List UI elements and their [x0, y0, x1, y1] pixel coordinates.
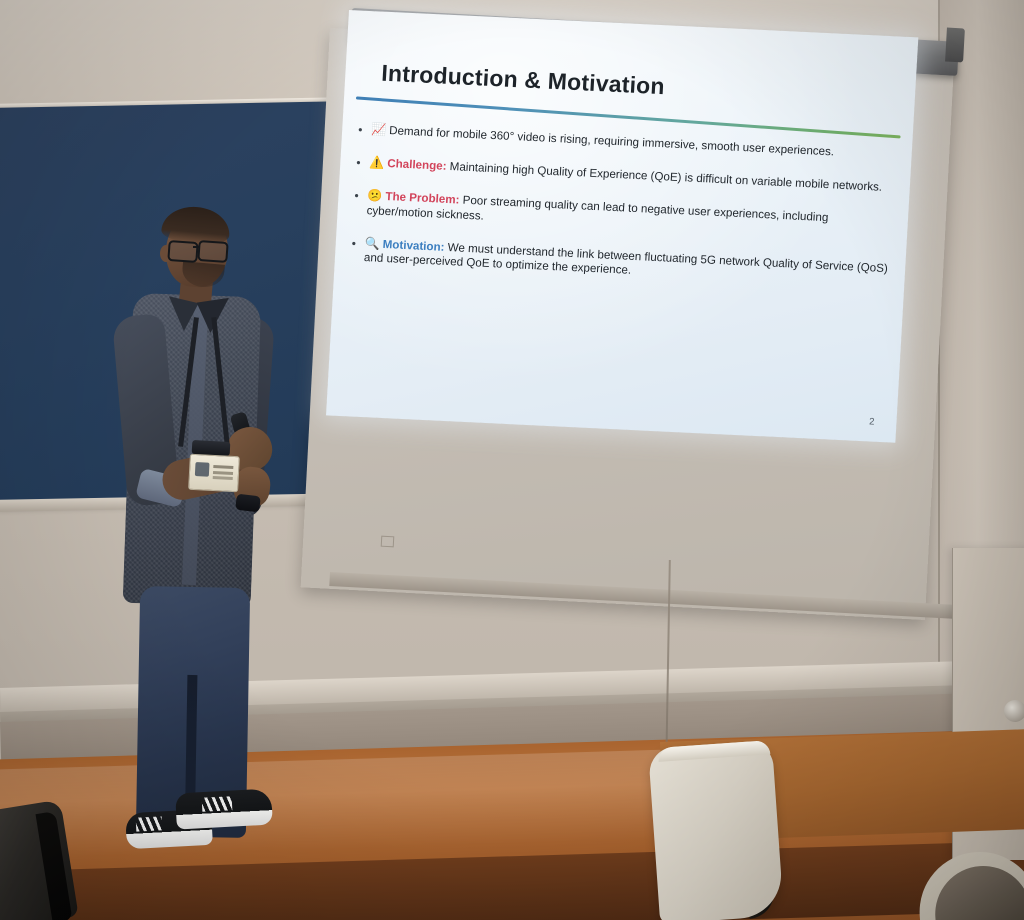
bullet-marker: •: [358, 123, 372, 138]
bullet-text: Demand for mobile 360° video is rising, …: [389, 124, 835, 158]
bullet-text: Maintaining high Quality of Experience (…: [449, 160, 882, 194]
list-item: • 😕The Problem: Poor streaming quality c…: [353, 189, 892, 243]
bullet-marker: •: [354, 189, 368, 204]
bullet-text-wrap: 😕The Problem: Poor streaming quality can…: [366, 190, 892, 244]
screen-housing-end-cap: [945, 28, 965, 63]
bullet-text-wrap: 🔍Motivation: We must understand the link…: [364, 237, 890, 291]
list-item: • ⚠️Challenge: Maintaining high Quality …: [356, 156, 894, 196]
slide-title: Introduction & Motivation: [381, 60, 666, 101]
wristwatch: [235, 494, 261, 513]
bullet-label: Challenge:: [387, 157, 447, 173]
glasses-right-lens: [197, 240, 228, 263]
bullet-marker: •: [351, 236, 365, 251]
list-item: • 🔍Motivation: We must understand the li…: [351, 236, 890, 290]
shoe-stripes-left: [136, 816, 163, 831]
glasses-left-lens: [167, 240, 198, 263]
bullet-marker: •: [356, 156, 370, 171]
presenter: [110, 205, 310, 845]
foreground-chair[interactable]: [648, 740, 784, 920]
screen-fabric-mark: [381, 536, 395, 548]
confused-face-icon: 😕: [367, 189, 383, 204]
bullet-label: Motivation:: [382, 238, 444, 254]
warning-triangle-icon: ⚠️: [369, 155, 385, 170]
chart-increasing-icon: 📈: [371, 122, 387, 137]
glasses-bridge: [193, 246, 200, 248]
bullet-text-wrap: ⚠️Challenge: Maintaining high Quality of…: [369, 156, 894, 195]
presentation-room-photo: Introduction & Motivation • 📈Demand for …: [0, 0, 1024, 920]
slide-bullet-list: • 📈Demand for mobile 360° video is risin…: [349, 123, 896, 310]
conference-badge: [188, 454, 240, 493]
projected-slide: Introduction & Motivation • 📈Demand for …: [326, 10, 918, 445]
shoe-stripes-right: [202, 796, 233, 812]
cabinet-handle-icon[interactable]: [1004, 700, 1024, 722]
magnifying-glass-icon: 🔍: [364, 236, 380, 251]
slide-number: 2: [869, 416, 875, 427]
